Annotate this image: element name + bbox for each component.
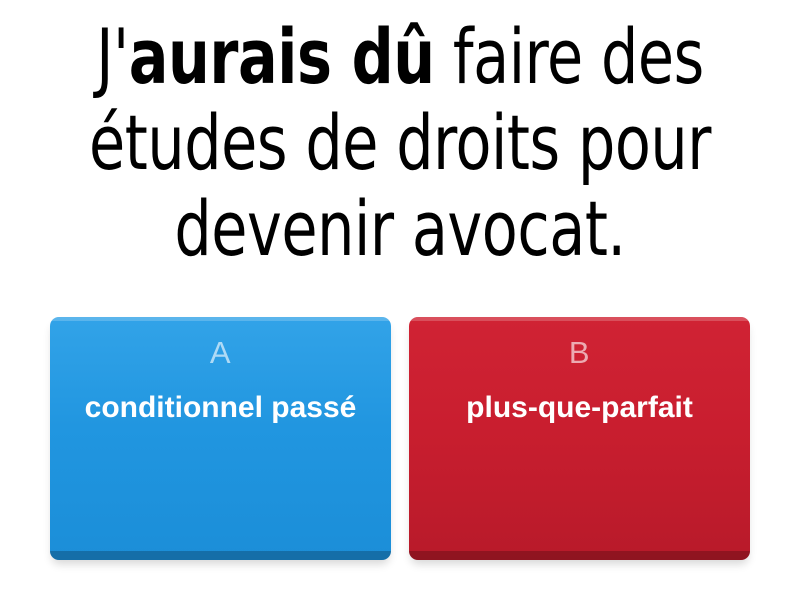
question-bold-segment: aurais dû [129,12,435,101]
answer-letter-b: B [569,335,590,371]
answer-label-a: conditionnel passé [50,387,391,428]
answer-letter-a: A [210,335,231,371]
answer-option-a[interactable]: A conditionnel passé [50,317,391,560]
question-prefix: J' [96,12,129,101]
answer-options-row: A conditionnel passé B plus-que-parfait [50,317,750,560]
question-area: J'aurais dû faire des études de droits p… [0,14,800,284]
answer-option-b[interactable]: B plus-que-parfait [409,317,750,560]
quiz-card: J'aurais dû faire des études de droits p… [0,0,800,600]
question-text: J'aurais dû faire des études de droits p… [82,14,718,272]
answer-label-b: plus-que-parfait [409,387,750,428]
